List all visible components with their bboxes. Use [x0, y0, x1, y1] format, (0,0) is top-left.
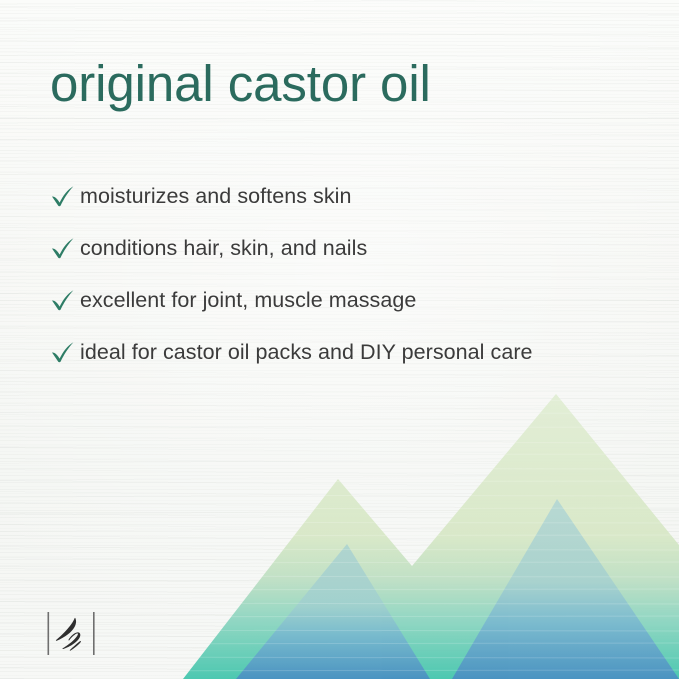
checkmark-icon — [50, 341, 80, 363]
checkmark-icon — [50, 185, 80, 207]
list-item: ideal for castor oil packs and DIY perso… — [50, 326, 650, 378]
list-item: moisturizes and softens skin — [50, 170, 650, 222]
script-monogram-logo — [44, 608, 100, 662]
list-item: excellent for joint, muscle massage — [50, 274, 650, 326]
logo-glyph — [56, 618, 81, 651]
checkmark-icon — [50, 289, 80, 311]
brand-logo — [44, 608, 100, 662]
page-title: original castor oil — [50, 58, 431, 109]
list-item-label: excellent for joint, muscle massage — [80, 288, 416, 313]
list-item-label: conditions hair, skin, and nails — [80, 236, 367, 261]
product-infographic: original castor oil moisturizes and soft… — [0, 0, 679, 679]
benefits-list: moisturizes and softens skin conditions … — [50, 170, 650, 378]
checkmark-icon — [50, 237, 80, 259]
list-item-label: moisturizes and softens skin — [80, 184, 351, 209]
list-item: conditions hair, skin, and nails — [50, 222, 650, 274]
logo-rule-right — [93, 612, 95, 655]
logo-rule-left — [48, 612, 50, 655]
list-item-label: ideal for castor oil packs and DIY perso… — [80, 340, 533, 365]
